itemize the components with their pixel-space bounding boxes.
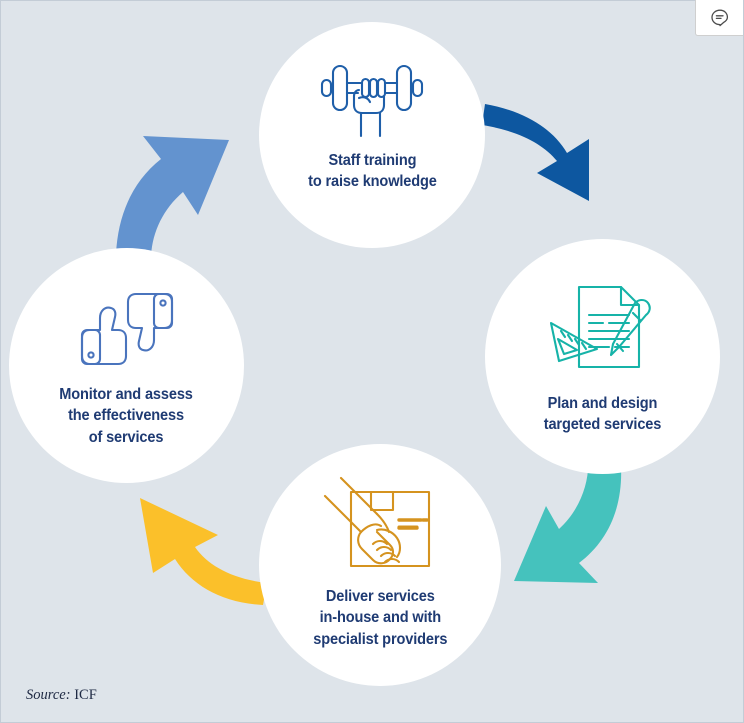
source-label: Source: <box>26 687 71 703</box>
arrow-deliver-to-monitor <box>140 498 267 605</box>
comment-button[interactable] <box>695 0 743 36</box>
cycle-node-monitor-assess[interactable]: Monitor and assess the effectiveness of … <box>9 248 244 483</box>
cycle-node-label: Deliver services in-house and with speci… <box>313 586 447 650</box>
thumbs-up-down-icon <box>76 290 178 368</box>
handshake-package-icon <box>321 474 439 574</box>
arrow-monitor-to-training <box>116 136 229 260</box>
cycle-node-deliver-services[interactable]: Deliver services in-house and with speci… <box>259 444 501 686</box>
cycle-node-plan-design[interactable]: Plan and design targeted services <box>485 239 720 474</box>
cycle-node-staff-training[interactable]: Staff training to raise knowledge <box>259 22 485 248</box>
arrow-plan-to-deliver <box>514 458 621 583</box>
diagram-canvas: Staff training to raise knowledge Plan a… <box>0 0 744 723</box>
cycle-node-label: Plan and design targeted services <box>544 393 661 436</box>
comment-bubble-icon <box>710 8 730 28</box>
source-note: Source: ICF <box>26 687 97 704</box>
arrow-training-to-plan <box>482 104 589 201</box>
document-ruler-pencil-icon <box>547 281 659 377</box>
source-value: ICF <box>74 687 97 703</box>
cycle-node-label: Monitor and assess the effectiveness of … <box>60 384 193 448</box>
cycle-node-label: Staff training to raise knowledge <box>308 150 437 193</box>
dumbbell-fist-icon <box>318 60 426 138</box>
